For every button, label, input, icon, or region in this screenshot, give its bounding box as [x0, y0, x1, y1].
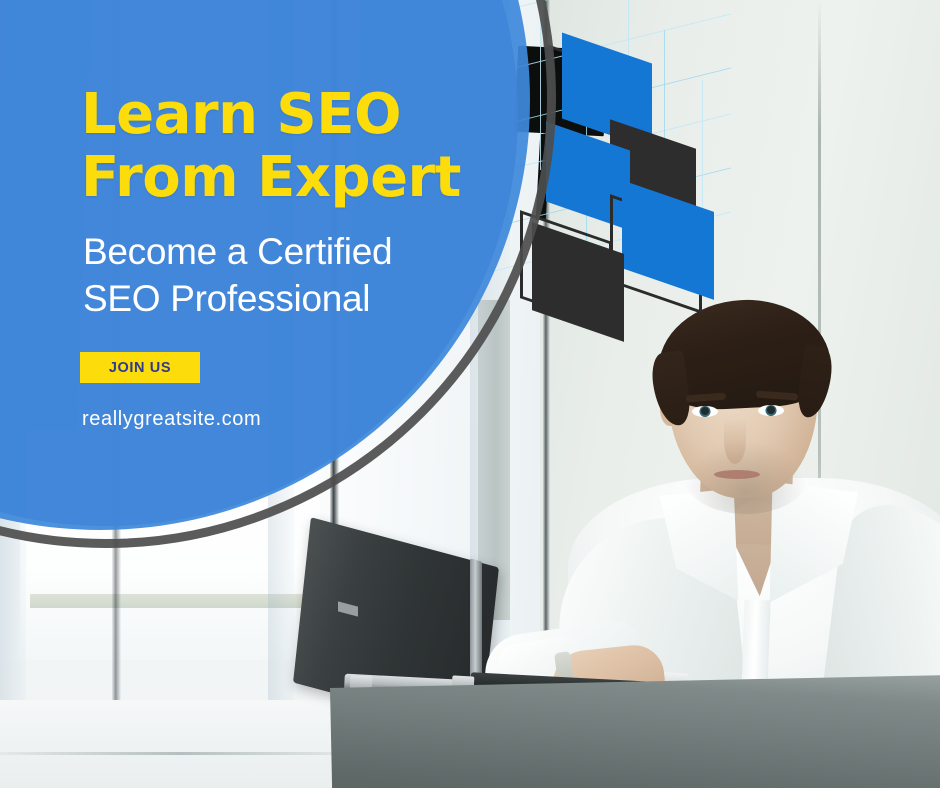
join-us-button[interactable]: JOIN US	[80, 352, 200, 383]
page-title: Learn SEO From Expert	[81, 84, 501, 209]
subheadline-line-1: Become a Certified	[83, 231, 392, 272]
page-subtitle: Become a Certified SEO Professional	[83, 228, 503, 323]
website-url[interactable]: reallygreatsite.com	[82, 408, 261, 431]
subheadline-line-2: SEO Professional	[83, 275, 503, 322]
headline-line-2: From Expert	[81, 147, 501, 210]
headline-line-1: Learn SEO	[81, 82, 401, 147]
poster-content: Learn SEO From Expert Become a Certified…	[0, 0, 940, 788]
seo-course-poster: Learn SEO From Expert Become a Certified…	[0, 0, 940, 788]
